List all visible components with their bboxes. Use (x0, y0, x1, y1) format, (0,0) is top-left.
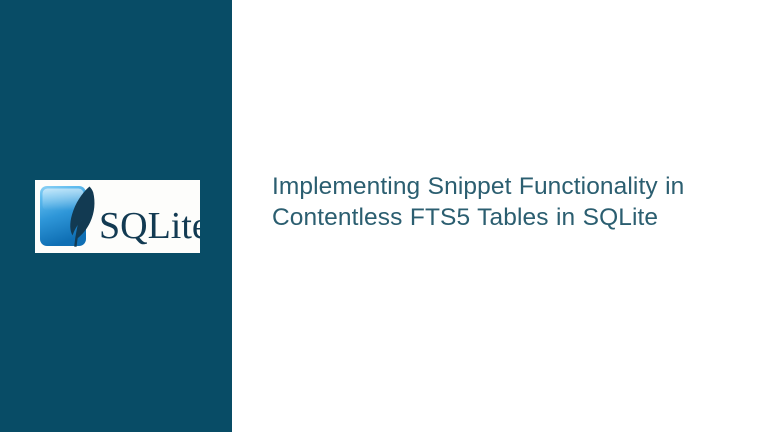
content-area: Implementing Snippet Functionality in Co… (232, 0, 768, 432)
page-title: Implementing Snippet Functionality in Co… (272, 171, 768, 233)
logo-sidebar: SQLite (0, 0, 232, 432)
sqlite-logo-icon: SQLite (35, 180, 200, 253)
title-slide: SQLite Implementing Snippet Functionalit… (0, 0, 768, 432)
sqlite-logo-plate: SQLite (35, 180, 200, 253)
sqlite-logo: SQLite (35, 180, 200, 253)
sqlite-wordmark: SQLite (99, 205, 200, 247)
